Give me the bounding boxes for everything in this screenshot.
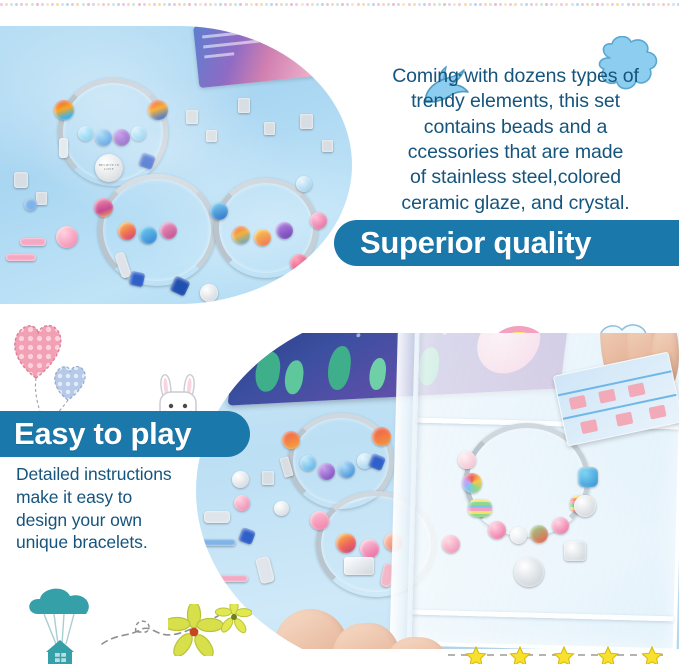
heart-balloons-icon [8, 316, 94, 420]
bead-pink [94, 198, 113, 217]
bead-blue [139, 226, 157, 244]
color-dot [51, 3, 54, 6]
color-dot [36, 3, 39, 6]
color-dot [41, 3, 44, 6]
dashed-star-border [448, 644, 668, 664]
color-dot [499, 3, 502, 6]
flowers-icon [168, 604, 252, 656]
loose-bead [274, 501, 289, 516]
color-dot [158, 3, 161, 6]
bead-blue-heart [578, 467, 598, 487]
color-dot [255, 3, 258, 6]
color-dot [372, 3, 375, 6]
bead-crystal [113, 129, 130, 146]
desc-line: unique bracelets. [16, 531, 226, 554]
product-infographic-page: BELIEVE IN LOVE [0, 0, 679, 669]
easy-to-play-banner: Easy to play [0, 411, 250, 457]
color-dot [102, 3, 105, 6]
color-dot [168, 3, 171, 6]
color-dot [87, 3, 90, 6]
color-dot [586, 3, 589, 6]
color-dot [484, 3, 487, 6]
cord-pink [20, 238, 46, 246]
color-dot [433, 3, 436, 6]
color-dot [107, 3, 110, 6]
color-dot [581, 3, 584, 6]
color-dot [652, 3, 655, 6]
color-dot [25, 3, 28, 6]
color-dot [525, 3, 528, 6]
desc-line: Detailed instructions [16, 463, 226, 486]
color-dot [423, 3, 426, 6]
color-dot [382, 3, 385, 6]
color-dot [127, 3, 130, 6]
color-dot [509, 3, 512, 6]
color-dot [82, 3, 85, 6]
color-dot [194, 3, 197, 6]
color-dot [545, 3, 548, 6]
color-dot [219, 3, 222, 6]
color-dot [148, 3, 151, 6]
bead-rainbow [232, 226, 250, 244]
bead-pink-round [290, 254, 308, 272]
color-dot [209, 3, 212, 6]
color-dot [601, 3, 604, 6]
easy-to-play-description: Detailed instructions make it easy to de… [16, 463, 226, 554]
easy-to-play-panel: Detailed instructions make it easy to de… [0, 310, 679, 669]
bracelet-tertiary [214, 178, 318, 278]
color-dot [173, 3, 176, 6]
color-dot [188, 3, 191, 6]
color-dot [627, 3, 630, 6]
dotted-color-strip [0, 0, 679, 9]
color-dot [530, 3, 533, 6]
bead-crystal [95, 129, 112, 146]
color-dot [97, 3, 100, 6]
color-dot [362, 3, 365, 6]
loose-bead [232, 471, 249, 488]
superior-quality-banner: Superior quality [334, 220, 679, 266]
star-charm [138, 152, 156, 170]
unicorn-charm [59, 138, 68, 158]
color-dot [540, 3, 543, 6]
bracelet-primary [58, 78, 168, 186]
desc-line: trendy elements, this set [362, 89, 669, 114]
star-charm [238, 527, 256, 545]
color-dot [642, 3, 645, 6]
superior-quality-description: Coming with dozens types of trendy eleme… [352, 64, 679, 216]
color-dot [621, 3, 624, 6]
charm-scatter [14, 172, 28, 188]
desc-line: design your own [16, 509, 226, 532]
charm-scatter [322, 140, 333, 152]
color-dot [76, 3, 79, 6]
color-dot [341, 3, 344, 6]
color-dot [346, 3, 349, 6]
desc-line: ceramic glaze, and crystal. [362, 191, 669, 216]
color-dot [438, 3, 441, 6]
color-dot [591, 3, 594, 6]
color-dot [66, 3, 69, 6]
sunburst-charm [514, 557, 544, 587]
hand-bottom [274, 589, 464, 649]
color-dot [199, 3, 202, 6]
charm-scatter [186, 110, 198, 124]
color-dot [112, 3, 115, 6]
color-dot [331, 3, 334, 6]
color-dot [443, 3, 446, 6]
color-dot [611, 3, 614, 6]
snowflake-charm [200, 284, 218, 302]
charm-tag-text: BELIEVE IN LOVE [95, 164, 123, 172]
bead-clear [296, 176, 312, 192]
color-dot [46, 3, 49, 6]
color-dot [71, 3, 74, 6]
color-dot [132, 3, 135, 6]
bracelet-display-case-photo [196, 333, 679, 649]
color-dot [270, 3, 273, 6]
color-dot [290, 3, 293, 6]
color-dot [392, 3, 395, 6]
color-dot [408, 3, 411, 6]
color-dot [576, 3, 579, 6]
color-dot [163, 3, 166, 6]
color-dot [560, 3, 563, 6]
color-dot [117, 3, 120, 6]
charm-scatter [36, 192, 47, 205]
color-dot [494, 3, 497, 6]
color-dot [260, 3, 263, 6]
color-dot [413, 3, 416, 6]
color-dot [321, 3, 324, 6]
color-dot [520, 3, 523, 6]
cord-pink [6, 254, 36, 261]
color-dot [428, 3, 431, 6]
color-dot [301, 3, 304, 6]
color-dot [143, 3, 146, 6]
color-dot [637, 3, 640, 6]
color-dot [514, 3, 517, 6]
color-dot [387, 3, 390, 6]
bead-pink [160, 222, 177, 239]
mermaid-tail-charm [255, 556, 275, 585]
color-dot [311, 3, 314, 6]
feather-charm [114, 251, 132, 279]
snowflake-charm [574, 495, 596, 517]
desc-line: make it easy to [16, 486, 226, 509]
color-dot [336, 3, 339, 6]
color-dot [657, 3, 660, 6]
bead-pink-glitter [488, 521, 506, 539]
bead-striped [468, 499, 492, 517]
color-dot [489, 3, 492, 6]
color-dot [224, 3, 227, 6]
color-dot [265, 3, 268, 6]
color-dot [377, 3, 380, 6]
color-card-decor [193, 26, 319, 88]
bead-purple [276, 222, 293, 239]
color-dot [326, 3, 329, 6]
color-dot [453, 3, 456, 6]
cord-pink [202, 575, 248, 582]
color-dot [250, 3, 253, 6]
bead-blue [300, 455, 316, 471]
bead-silver [510, 527, 527, 544]
color-dot [469, 3, 472, 6]
color-dot [15, 3, 18, 6]
bead-blue [210, 202, 228, 220]
bead-pink-glitter [552, 517, 569, 534]
color-dot [667, 3, 670, 6]
color-dot [306, 3, 309, 6]
color-dot [606, 3, 609, 6]
color-dot [672, 3, 675, 6]
bead-rainbow [54, 100, 74, 120]
bead-purple [318, 463, 335, 480]
id-plate-charm [344, 557, 374, 575]
color-dot [204, 3, 207, 6]
color-dot [295, 3, 298, 6]
bead-red [372, 427, 391, 446]
color-dot [550, 3, 553, 6]
color-dot [183, 3, 186, 6]
color-dot [504, 3, 507, 6]
color-dot [56, 3, 59, 6]
loose-bead [234, 495, 250, 511]
desc-line: ccessories that are made [362, 140, 669, 165]
bead-mixed [336, 533, 356, 553]
bead-crystal [78, 126, 93, 141]
bead-pink-round [56, 226, 78, 248]
color-dot [632, 3, 635, 6]
color-dot [367, 3, 370, 6]
bead-red [282, 431, 300, 449]
color-dot [234, 3, 237, 6]
bead-pink [360, 539, 379, 558]
color-dot [245, 3, 248, 6]
color-dot [555, 3, 558, 6]
color-dot [616, 3, 619, 6]
color-dot [214, 3, 217, 6]
bead-rainbow-disc [462, 473, 482, 493]
superior-quality-banner-label: Superior quality [360, 225, 591, 261]
bead-crystal [131, 126, 146, 141]
desc-line: contains beads and a [362, 115, 669, 140]
color-dot [662, 3, 665, 6]
color-dot [458, 3, 461, 6]
easy-to-play-banner-label: Easy to play [14, 416, 191, 452]
charm-scatter [206, 130, 217, 142]
cloud-house-balloon-icon [22, 586, 98, 664]
color-dot [5, 3, 8, 6]
bead-fruit [530, 525, 548, 543]
color-dot [316, 3, 319, 6]
color-dot [153, 3, 156, 6]
color-dot [565, 3, 568, 6]
desc-line: Coming with dozens types of [362, 64, 669, 89]
charm-scatter [238, 98, 250, 113]
color-dot [138, 3, 141, 6]
bracelet-flatlay-photo: BELIEVE IN LOVE [0, 26, 352, 304]
color-dot [61, 3, 64, 6]
color-dot [10, 3, 13, 6]
color-dot [229, 3, 232, 6]
star-charm [129, 271, 146, 288]
bracelet-secondary [98, 174, 216, 286]
bead-pink-round [310, 212, 327, 229]
bead-pink [442, 535, 460, 553]
color-dot [596, 3, 599, 6]
color-dot [20, 3, 23, 6]
color-dot [357, 3, 360, 6]
bead-pale-pink [458, 451, 476, 469]
color-dot [571, 3, 574, 6]
star-charm [169, 275, 190, 296]
color-dot [402, 3, 405, 6]
color-dot [239, 3, 242, 6]
color-dot [464, 3, 467, 6]
color-dot [448, 3, 451, 6]
color-dot [178, 3, 181, 6]
bead-warm [254, 229, 271, 246]
bead-rainbow [148, 100, 168, 120]
color-dot [418, 3, 421, 6]
color-dot [31, 3, 34, 6]
loose-charm [262, 471, 274, 485]
color-dot [92, 3, 95, 6]
color-dot [122, 3, 125, 6]
bead-pink [310, 511, 329, 530]
color-dot [280, 3, 283, 6]
color-dot [647, 3, 650, 6]
believe-in-love-charm: BELIEVE IN LOVE [95, 154, 123, 182]
bead-blue [338, 461, 355, 478]
color-dot [275, 3, 278, 6]
charm-scatter [300, 114, 313, 129]
color-dot [0, 3, 3, 6]
color-dot [351, 3, 354, 6]
color-dot [474, 3, 477, 6]
desc-line: of stainless steel,colored [362, 165, 669, 190]
bow-charm [564, 541, 586, 561]
color-dot [479, 3, 482, 6]
star-bead [24, 198, 37, 211]
color-dot [535, 3, 538, 6]
color-dot [397, 3, 400, 6]
bead-mixed [118, 222, 136, 240]
charm-scatter [264, 122, 275, 135]
color-dot [285, 3, 288, 6]
